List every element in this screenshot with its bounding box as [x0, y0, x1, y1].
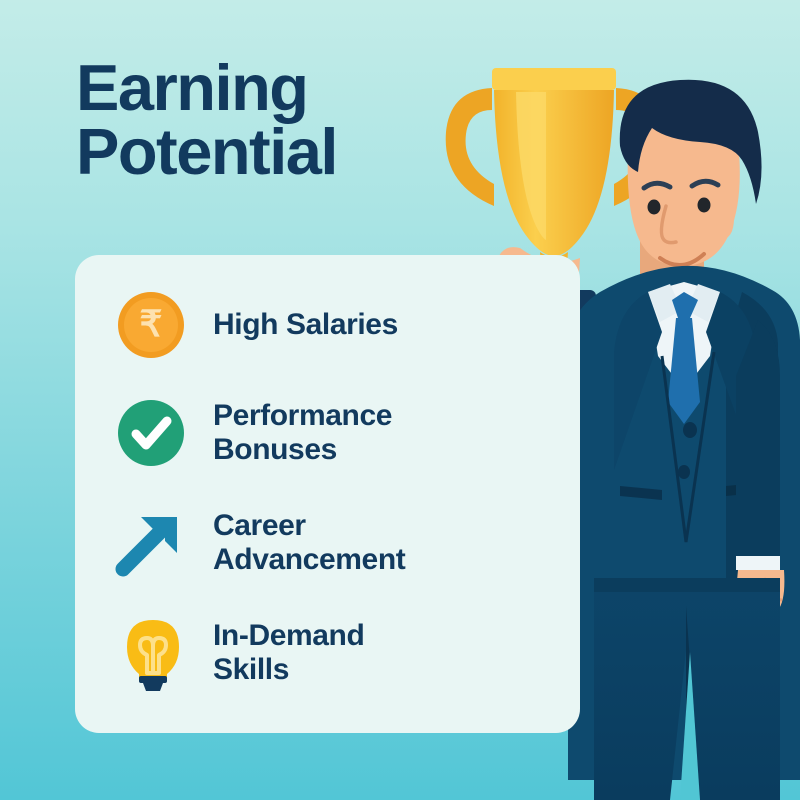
title-line-1: Earning: [76, 56, 496, 120]
benefit-label: In-Demand Skills: [213, 619, 364, 686]
infographic-poster: Earning Potential ₹ High Salaries: [0, 0, 800, 800]
benefit-label: Career Advancement: [213, 509, 405, 576]
rupee-coin-icon: ₹: [115, 289, 187, 361]
trousers: [594, 578, 780, 800]
benefit-label-line-2: Advancement: [213, 543, 405, 577]
benefit-label-line-1: Performance: [213, 399, 392, 432]
page-title: Earning Potential: [76, 56, 496, 183]
title-line-2: Potential: [76, 120, 496, 184]
check-circle-icon: [115, 397, 187, 469]
benefit-item-performance-bonuses[interactable]: Performance Bonuses: [115, 397, 555, 469]
benefit-label: High Salaries: [213, 308, 398, 342]
right-arm: [736, 320, 784, 618]
benefit-item-career-advancement[interactable]: Career Advancement: [115, 507, 555, 579]
benefit-label-line-1: Career: [213, 509, 306, 542]
benefit-item-in-demand-skills[interactable]: In-Demand Skills: [115, 617, 555, 689]
benefits-card: ₹ High Salaries Performance Bonuses: [75, 255, 580, 733]
benefit-label: Performance Bonuses: [213, 399, 392, 466]
benefit-label-line-2: Skills: [213, 653, 364, 687]
benefit-label-line-2: Bonuses: [213, 433, 392, 467]
lightbulb-icon: [115, 617, 187, 689]
benefit-label-line-1: In-Demand: [213, 619, 364, 652]
head: [620, 80, 762, 266]
benefit-label-line-1: High Salaries: [213, 308, 398, 341]
rupee-symbol: ₹: [140, 306, 163, 342]
arrow-up-right-icon: [115, 507, 187, 579]
benefit-item-high-salaries[interactable]: ₹ High Salaries: [115, 289, 555, 361]
